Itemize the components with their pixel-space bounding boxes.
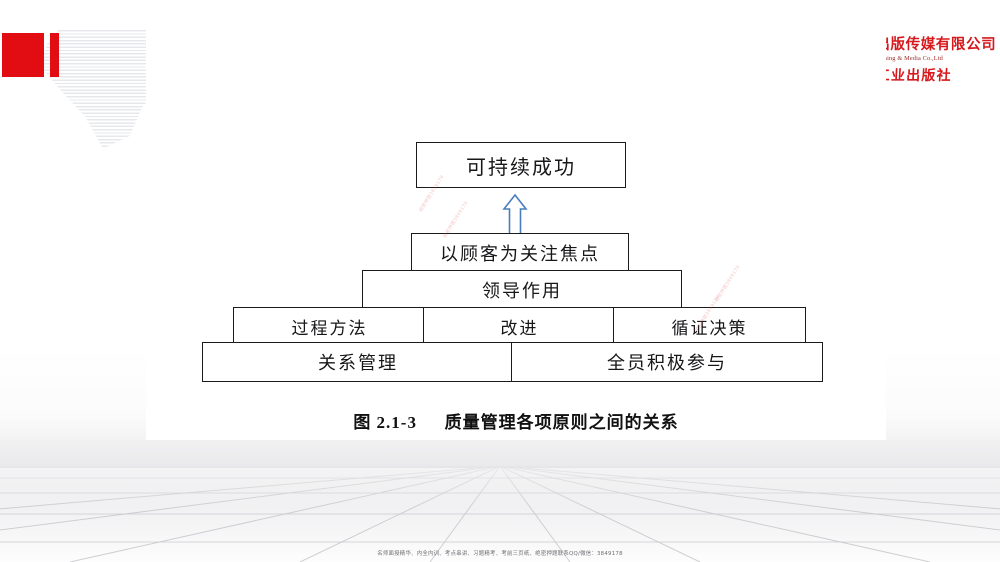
figure-caption: 图 2.1-3 质量管理各项原则之间的关系 xyxy=(146,408,886,433)
content-panel: 可持续成功 以顾客为关注焦点 领导作用 过程方法 改进 循证决策 关系管理 全员… xyxy=(146,0,886,440)
figure-watermark: 绝密押题3849178 xyxy=(714,264,741,303)
panel-shadow-band xyxy=(0,440,1000,466)
pyramid-box-improvement: 改进 xyxy=(423,307,616,345)
figure-caption-index: 图 2.1-3 xyxy=(353,413,417,432)
pyramid-box-relationship-management: 关系管理 xyxy=(202,342,514,382)
pyramid-box-process-approach: 过程方法 xyxy=(233,307,426,345)
red-bookmark-stripe xyxy=(50,33,59,77)
pyramid-box-engagement-of-people: 全员积极参与 xyxy=(511,342,823,382)
slide-canvas: 二建、监理、一建、一造、二造、安全、消防、咨询、检测课程押题联系QQ/微信：38… xyxy=(0,0,1000,562)
pyramid-box-sustainable-success: 可持续成功 xyxy=(416,142,626,188)
perspective-floor xyxy=(0,466,1000,562)
red-bookmark-block xyxy=(2,33,44,77)
footer-promo-text: 名师面授精华、内全内训、考点串讲、习题精考、考前三页纸、绝密押题联系QQ/微信：… xyxy=(0,549,1000,557)
figure-caption-title: 质量管理各项原则之间的关系 xyxy=(445,413,679,433)
pyramid-box-leadership: 领导作用 xyxy=(362,270,682,309)
quality-principles-pyramid: 可持续成功 以顾客为关注焦点 领导作用 过程方法 改进 循证决策 关系管理 全员… xyxy=(146,0,886,440)
pyramid-box-customer-focus: 以顾客为关注焦点 xyxy=(411,233,629,272)
floor-gradient-overlay xyxy=(0,466,1000,562)
pyramid-box-evidence-based-decision: 循证决策 xyxy=(613,307,806,345)
